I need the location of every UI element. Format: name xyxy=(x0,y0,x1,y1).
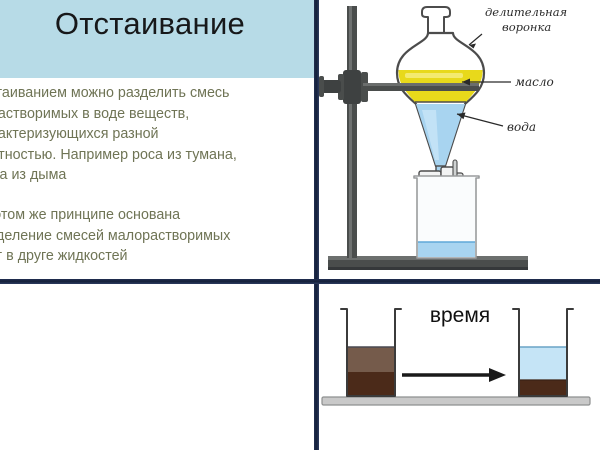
paragraph1-line1: тстаиванием можно разделить смесь xyxy=(0,83,312,104)
beaker-liquid xyxy=(418,242,475,257)
stand-rod-icon xyxy=(347,6,357,258)
paragraph2-line1: а этом же принципе основана xyxy=(0,205,312,226)
paragraph1-line4: лотностью. Например роса из тумана, xyxy=(0,145,312,166)
paragraph1-line2: ерастворимых в воде веществ, xyxy=(0,104,312,125)
paragraph-spacer xyxy=(0,186,312,205)
funnel-support-ring-highlight xyxy=(363,83,479,86)
vertical-divider xyxy=(314,0,319,450)
funnel-illustration: делительная воронка масло вода xyxy=(319,0,600,279)
label-funnel: делительная воронка xyxy=(469,5,567,49)
water-label: вода xyxy=(507,120,536,134)
title-band: Отстаивание xyxy=(0,0,314,78)
body-text: тстаиванием можно разделить смесь ераств… xyxy=(0,83,312,267)
page-title: Отстаивание xyxy=(0,6,300,42)
beaker-before xyxy=(341,309,401,396)
bench-surface xyxy=(322,397,590,405)
oil-highlight xyxy=(405,73,463,78)
clear-water xyxy=(520,347,566,383)
sediment-before xyxy=(348,372,394,395)
time-arrow xyxy=(402,368,506,382)
beaker-after xyxy=(513,309,573,396)
slide-canvas: Отстаивание тстаиванием можно разделить … xyxy=(0,0,600,450)
funnel-neck xyxy=(422,7,450,33)
paragraph2-line2: азделение смесей малорастворимых xyxy=(0,226,312,247)
label-water: вода xyxy=(457,113,536,135)
receiving-beaker xyxy=(414,176,479,258)
paragraph2-line3: руг в друге жидкостей xyxy=(0,246,312,267)
separating-funnel-diagram: делительная воронка масло вода xyxy=(319,0,600,279)
horizontal-divider xyxy=(0,279,600,284)
empty-panel xyxy=(0,284,314,450)
oil-label: масло xyxy=(515,75,554,89)
paragraph1-line5: ажа из дыма xyxy=(0,165,312,186)
sediment-after xyxy=(520,380,566,395)
text-panel: Отстаивание тстаиванием можно разделить … xyxy=(0,0,314,279)
funnel-label-line2: воронка xyxy=(502,20,551,34)
settling-diagram: время xyxy=(319,284,600,450)
time-arrow-label: время xyxy=(405,304,515,328)
funnel-label-line1: делительная xyxy=(485,5,567,19)
paragraph1-line3: арактеризующихся разной xyxy=(0,124,312,145)
